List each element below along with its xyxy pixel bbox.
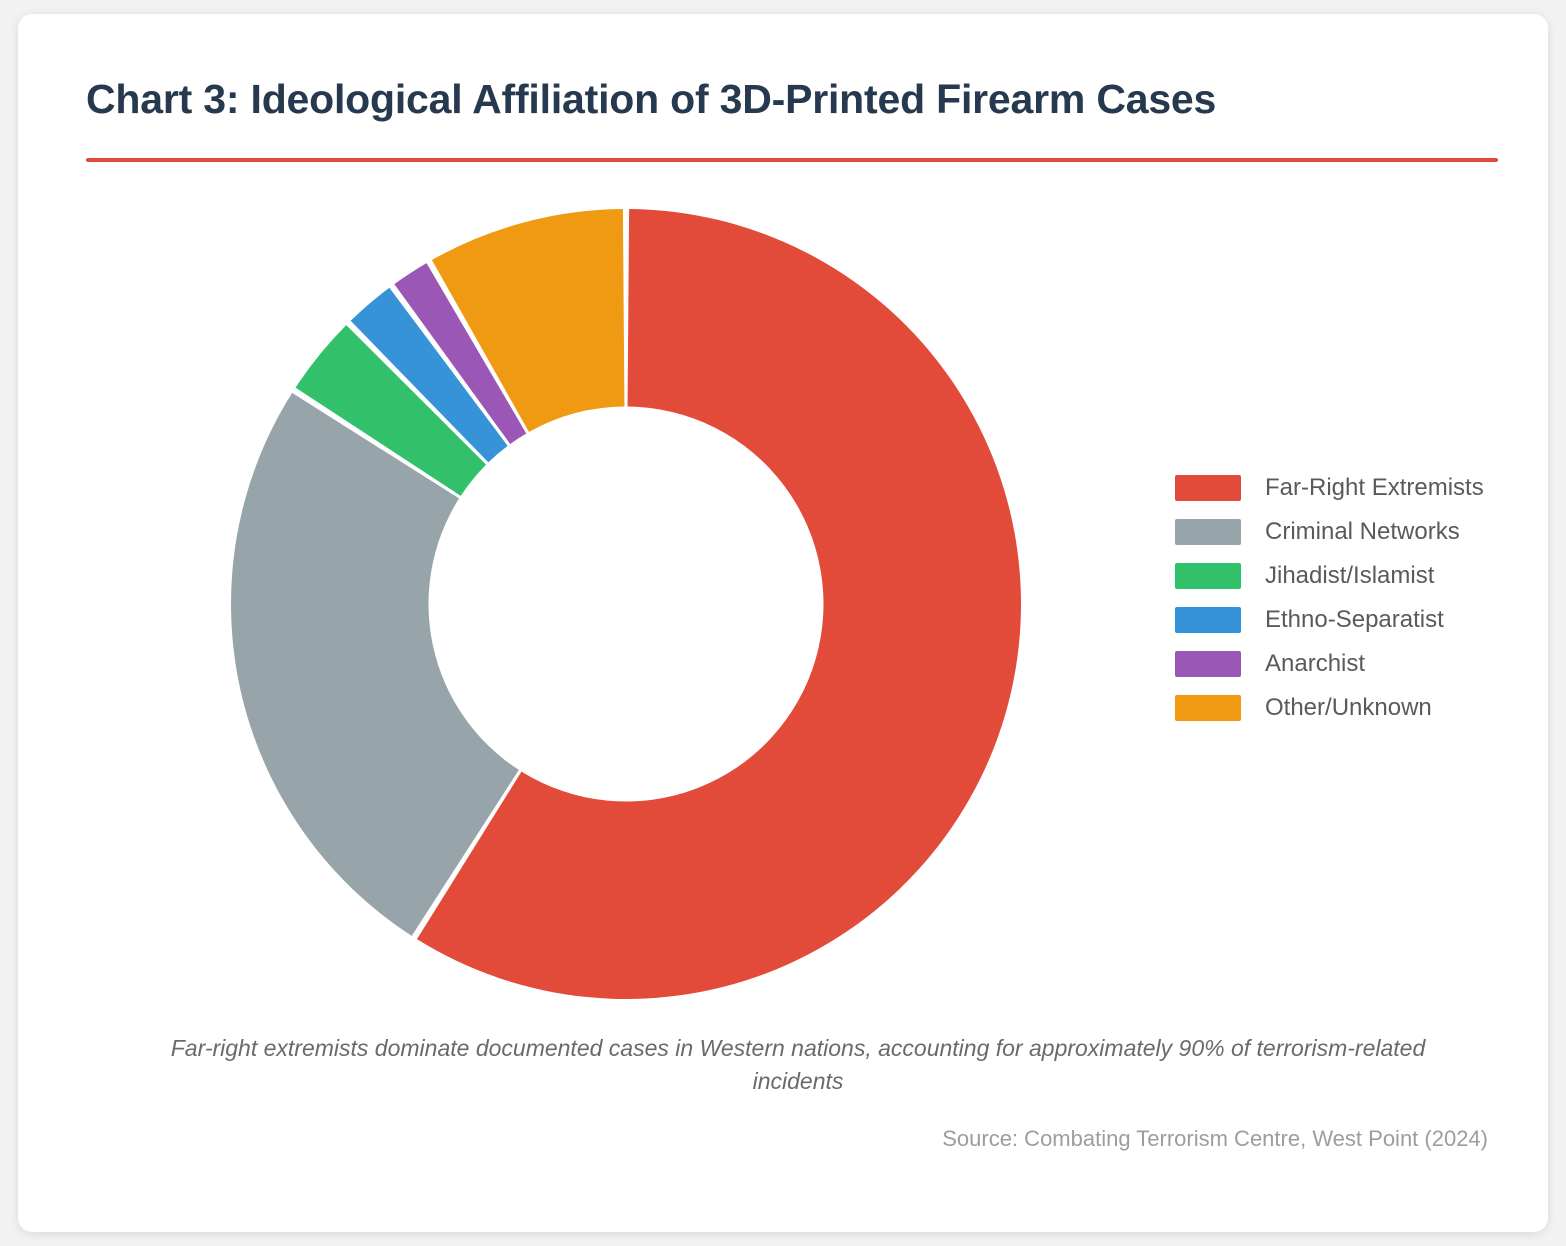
legend-item[interactable]: Far-Right Extremists bbox=[1175, 466, 1535, 510]
legend-color-swatch bbox=[1175, 519, 1241, 545]
chart-caption: Far-right extremists dominate documented… bbox=[128, 1032, 1468, 1097]
page-title: Chart 3: Ideological Affiliation of 3D-P… bbox=[86, 76, 1486, 123]
legend-item-label: Criminal Networks bbox=[1265, 518, 1460, 546]
legend-item[interactable]: Criminal Networks bbox=[1175, 510, 1535, 554]
legend-item[interactable]: Anarchist bbox=[1175, 642, 1535, 686]
title-divider bbox=[86, 158, 1498, 162]
legend-item[interactable]: Ethno-Separatist bbox=[1175, 598, 1535, 642]
legend-item[interactable]: Jihadist/Islamist bbox=[1175, 554, 1535, 598]
legend-color-swatch bbox=[1175, 695, 1241, 721]
legend-item-label: Jihadist/Islamist bbox=[1265, 562, 1434, 590]
legend-item-label: Ethno-Separatist bbox=[1265, 606, 1444, 634]
legend-item-label: Anarchist bbox=[1265, 650, 1365, 678]
legend-item-label: Far-Right Extremists bbox=[1265, 474, 1484, 502]
legend-color-swatch bbox=[1175, 475, 1241, 501]
legend-color-swatch bbox=[1175, 607, 1241, 633]
legend-item-label: Other/Unknown bbox=[1265, 694, 1432, 722]
chart-legend: Far-Right ExtremistsCriminal NetworksJih… bbox=[1175, 466, 1535, 730]
legend-item[interactable]: Other/Unknown bbox=[1175, 686, 1535, 730]
chart-source: Source: Combating Terrorism Centre, West… bbox=[942, 1126, 1488, 1152]
chart-card: Chart 3: Ideological Affiliation of 3D-P… bbox=[18, 14, 1548, 1232]
legend-color-swatch bbox=[1175, 563, 1241, 589]
legend-color-swatch bbox=[1175, 651, 1241, 677]
donut-chart-plot bbox=[18, 169, 1078, 1029]
donut-chart-svg bbox=[18, 169, 1078, 1029]
